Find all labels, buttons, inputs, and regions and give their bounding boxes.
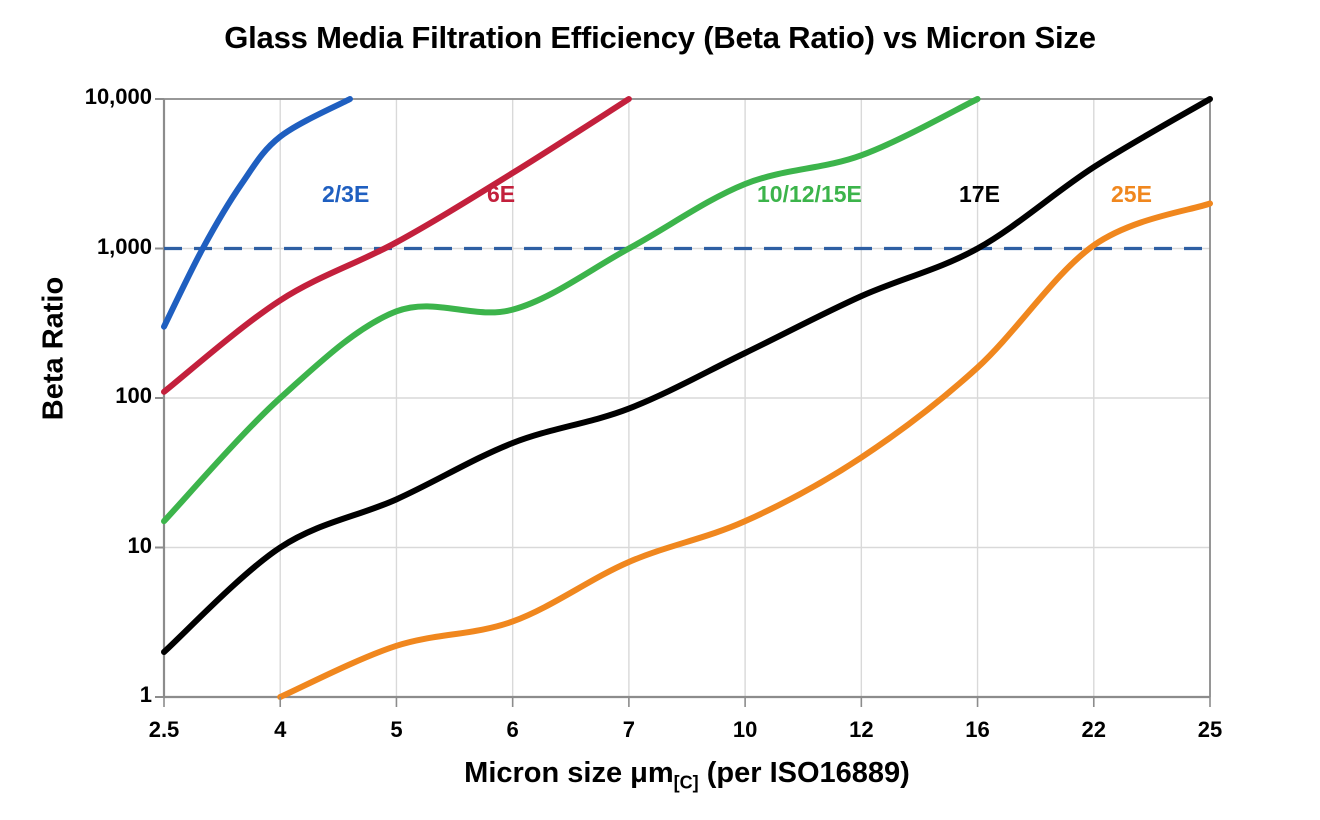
x-tick-label: 2.5 <box>119 717 209 743</box>
y-tick-label: 10 <box>12 533 152 559</box>
x-tick-label: 10 <box>700 717 790 743</box>
x-axis-title-subscript: [C] <box>674 772 699 792</box>
y-tick-label: 10,000 <box>12 84 152 110</box>
x-axis-title-main: Micron size μm <box>464 757 674 789</box>
y-tick-label: 100 <box>12 383 152 409</box>
series-label-17E: 17E <box>959 181 1000 208</box>
series-label-10-12-15E: 10/12/15E <box>757 181 862 208</box>
x-tick-label: 22 <box>1049 717 1139 743</box>
x-tick-label: 12 <box>816 717 906 743</box>
grid-lines <box>164 99 1210 697</box>
x-tick-label: 7 <box>584 717 674 743</box>
series-label-2-3E: 2/3E <box>322 181 369 208</box>
x-tick-label: 6 <box>468 717 558 743</box>
x-tick-label: 4 <box>235 717 325 743</box>
x-tick-label: 25 <box>1165 717 1255 743</box>
x-axis-title-tail: (per ISO16889) <box>699 757 910 789</box>
tick-marks <box>155 99 1210 707</box>
x-tick-label: 16 <box>933 717 1023 743</box>
x-tick-label: 5 <box>351 717 441 743</box>
y-tick-label: 1 <box>12 682 152 708</box>
series-line-17E <box>164 99 1210 652</box>
y-tick-label: 1,000 <box>12 234 152 260</box>
plot-area <box>0 0 1320 820</box>
series-label-6E: 6E <box>487 181 515 208</box>
chart-container: Glass Media Filtration Efficiency (Beta … <box>0 0 1320 820</box>
y-axis-title: Beta Ratio <box>38 219 71 479</box>
series-line-2-3E <box>164 99 350 327</box>
series-label-25E: 25E <box>1111 181 1152 208</box>
x-axis-title: Micron size μm[C] (per ISO16889) <box>164 757 1210 793</box>
